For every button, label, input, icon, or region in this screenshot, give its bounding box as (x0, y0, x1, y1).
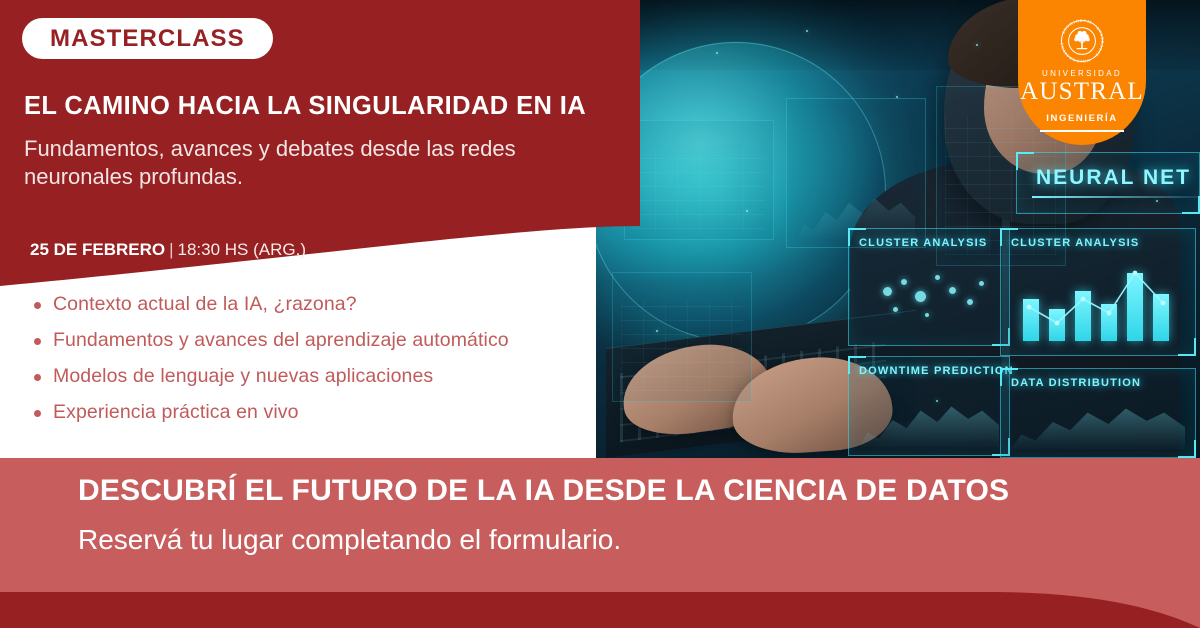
hud-panel-cluster-scatter: CLUSTER ANALYSIS (848, 228, 1010, 346)
agenda-item-label: Modelos de lenguaje y nuevas aplicacione… (53, 365, 433, 388)
hud-area-curve (859, 395, 999, 447)
agenda-list: Contexto actual de la IA, ¿razona? Funda… (34, 293, 594, 437)
hud-label-data-distribution: DATA DISTRIBUTION (1011, 377, 1141, 389)
university-logo-badge: STVDIORVM · AVSTRALIS · VNIVERSITAS (1018, 0, 1146, 145)
university-pretitle: UNIVERSIDAD (1042, 69, 1122, 78)
list-item: Experiencia práctica en vivo (34, 401, 594, 424)
hud-panel-bg-2 (786, 98, 926, 248)
list-item: Modelos de lenguaje y nuevas aplicacione… (34, 365, 594, 388)
agenda-item-label: Contexto actual de la IA, ¿razona? (53, 293, 357, 316)
hud-label-neural-net-rule (1032, 196, 1200, 198)
bullet-dot-icon (34, 338, 41, 345)
trend-line (1017, 263, 1197, 343)
cta-title: DESCUBRÍ EL FUTURO DE LA IA DESDE LA CIE… (78, 474, 1009, 508)
hud-panel-downtime: DOWNTIME PREDICTION (848, 356, 1010, 456)
bullet-dot-icon (34, 410, 41, 417)
event-date: 25 DE FEBRERO (30, 240, 165, 259)
hud-panel-data-distribution: DATA DISTRIBUTION (1000, 368, 1196, 458)
list-item: Contexto actual de la IA, ¿razona? (34, 293, 594, 316)
agenda-item-label: Experiencia práctica en vivo (53, 401, 299, 424)
event-time: 18:30 HS (ARG.) (178, 240, 307, 259)
hud-panel-bg-1 (624, 120, 774, 240)
austral-seal-icon: STVDIORVM · AVSTRALIS · VNIVERSITAS (1055, 14, 1109, 68)
agenda-item-label: Fundamentos y avances del aprendizaje au… (53, 329, 509, 352)
page-title: EL CAMINO HACIA LA SINGULARIDAD EN IA (24, 92, 624, 121)
hud-area-curve (1011, 397, 1185, 449)
event-datetime: 25 DE FEBRERO|18:30 HS (ARG.) (30, 240, 306, 260)
hud-label-cluster-analysis: CLUSTER ANALYSIS (1011, 237, 1139, 249)
bullet-dot-icon (34, 302, 41, 309)
bullet-dot-icon (34, 374, 41, 381)
hud-panel-cluster-analysis: CLUSTER ANALYSIS (1000, 228, 1196, 356)
cta-subtitle: Reservá tu lugar completando el formular… (78, 524, 621, 556)
bar-chart (1017, 263, 1181, 341)
page-subtitle: Fundamentos, avances y debates desde las… (24, 135, 564, 191)
faculty-underline (1040, 130, 1124, 132)
faculty-label: INGENIERÍA (1046, 113, 1117, 124)
hud-grid (633, 149, 765, 229)
masterclass-label: MASTERCLASS (50, 25, 245, 53)
masterclass-badge: MASTERCLASS (22, 18, 273, 59)
datetime-separator: | (165, 240, 177, 259)
hud-label-downtime-prediction: DOWNTIME PREDICTION (859, 365, 1014, 377)
promo-banner: CLUSTER ANALYSIS DOWNTIME PREDICTION CLU… (0, 0, 1200, 628)
scatter-plot (849, 229, 1009, 345)
university-name: AUSTRAL (1020, 78, 1144, 106)
hud-panel-bg-4 (612, 272, 752, 402)
hud-grid (621, 301, 743, 391)
list-item: Fundamentos y avances del aprendizaje au… (34, 329, 594, 352)
hud-label-neural-net: NEURAL NET (1036, 166, 1191, 190)
